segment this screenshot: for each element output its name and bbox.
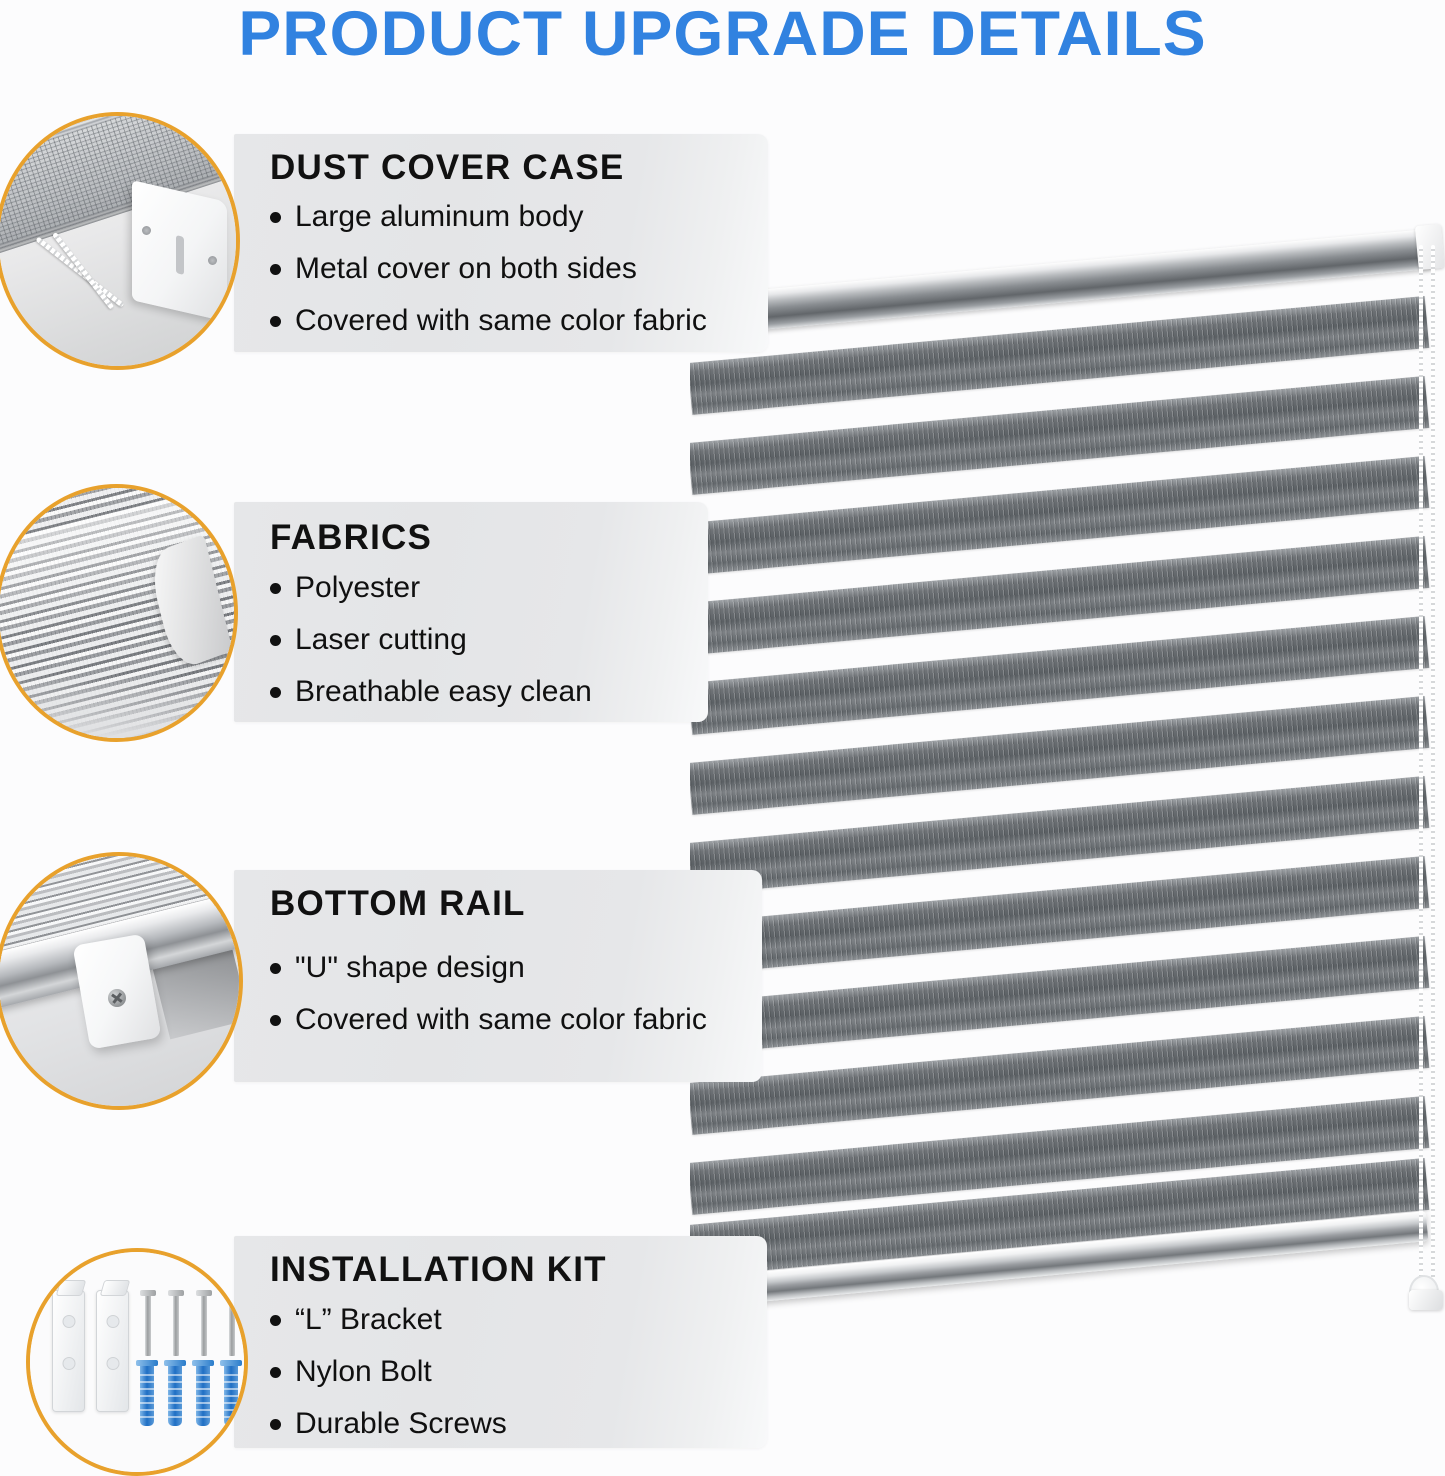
page-title: PRODUCT UPGRADE DETAILS [0, 0, 1445, 70]
feature-title: FABRICS [270, 518, 432, 558]
bullet-dot [270, 963, 281, 974]
bracket-hole [106, 1357, 119, 1370]
screw-icon [142, 226, 151, 235]
screw [229, 1294, 235, 1356]
screw [201, 1294, 207, 1356]
bullet-dot [270, 316, 281, 327]
installation-kit-photo [26, 1248, 248, 1476]
feature-bullets: Large aluminum body Metal cover on both … [270, 200, 707, 338]
bullet-dot [270, 264, 281, 275]
screw [173, 1294, 179, 1356]
fabric-swatch-photo [0, 484, 238, 742]
list-item: Laser cutting [270, 623, 592, 657]
feature-title: INSTALLATION KIT [270, 1250, 607, 1290]
feature-bullets: Polyester Laser cutting Breathable easy … [270, 571, 592, 709]
list-item-label: Covered with same color fabric [295, 1003, 707, 1037]
product-infographic: PRODUCT UPGRADE DETAILS [0, 0, 1445, 1476]
bullet-dot [270, 1315, 281, 1326]
bead-chain[interactable] [1431, 245, 1435, 1295]
bracket-hole [106, 1315, 119, 1328]
zebra-roller-blind-image [690, 215, 1445, 1325]
bead-chain[interactable] [1419, 245, 1423, 1295]
bullet-dot [270, 687, 281, 698]
list-item-label: Laser cutting [295, 623, 467, 657]
nylon-bolt-anchor [140, 1364, 154, 1426]
bracket-hole [62, 1357, 75, 1370]
list-item: Covered with same color fabric [270, 1003, 707, 1037]
photo-content [0, 856, 239, 1106]
screw-icon [108, 989, 126, 1007]
list-item: Polyester [270, 571, 592, 605]
l-bracket [52, 1290, 85, 1412]
end-cap-slot [176, 235, 184, 275]
list-item-label: Durable Screws [295, 1407, 507, 1441]
screw-icon [208, 256, 217, 265]
list-item-label: Nylon Bolt [295, 1355, 432, 1389]
feature-title: DUST COVER CASE [270, 148, 624, 188]
nylon-bolt-anchor [224, 1364, 238, 1426]
list-item-label: Polyester [295, 571, 420, 605]
dust-cover-case-photo [0, 112, 240, 370]
nylon-bolt-anchor [196, 1364, 210, 1426]
list-item: Covered with same color fabric [270, 304, 707, 338]
list-item: "U" shape design [270, 951, 707, 985]
photo-content [30, 1252, 244, 1472]
bullet-dot [270, 1015, 281, 1026]
bullet-dot [270, 583, 281, 594]
bottom-rail-photo [0, 852, 243, 1110]
list-item-label: Breathable easy clean [295, 675, 592, 709]
list-item: Nylon Bolt [270, 1355, 507, 1389]
photo-content [0, 116, 236, 366]
list-item-label: Metal cover on both sides [295, 252, 637, 286]
list-item: “L” Bracket [270, 1303, 507, 1337]
list-item-label: Large aluminum body [295, 200, 584, 234]
bullet-dot [270, 635, 281, 646]
feature-bullets: “L” Bracket Nylon Bolt Durable Screws [270, 1303, 507, 1441]
nylon-bolt-anchor [168, 1364, 182, 1426]
list-item: Metal cover on both sides [270, 252, 707, 286]
list-item: Durable Screws [270, 1407, 507, 1441]
chain-clip [1409, 1290, 1443, 1310]
photo-content [0, 488, 234, 738]
bullet-dot [270, 1419, 281, 1430]
list-item: Breathable easy clean [270, 675, 592, 709]
list-item-label: "U" shape design [295, 951, 525, 985]
feature-bullets: "U" shape design Covered with same color… [270, 951, 707, 1037]
list-item: Large aluminum body [270, 200, 707, 234]
screw [145, 1294, 151, 1356]
bullet-dot [270, 212, 281, 223]
photo-floor-shadow [0, 673, 234, 738]
feature-title: BOTTOM RAIL [270, 884, 526, 924]
l-bracket [96, 1290, 129, 1412]
list-item-label: “L” Bracket [295, 1303, 442, 1337]
list-item-label: Covered with same color fabric [295, 304, 707, 338]
blind-panel [690, 215, 1445, 1325]
bullet-dot [270, 1367, 281, 1378]
bracket-hole [62, 1315, 75, 1328]
